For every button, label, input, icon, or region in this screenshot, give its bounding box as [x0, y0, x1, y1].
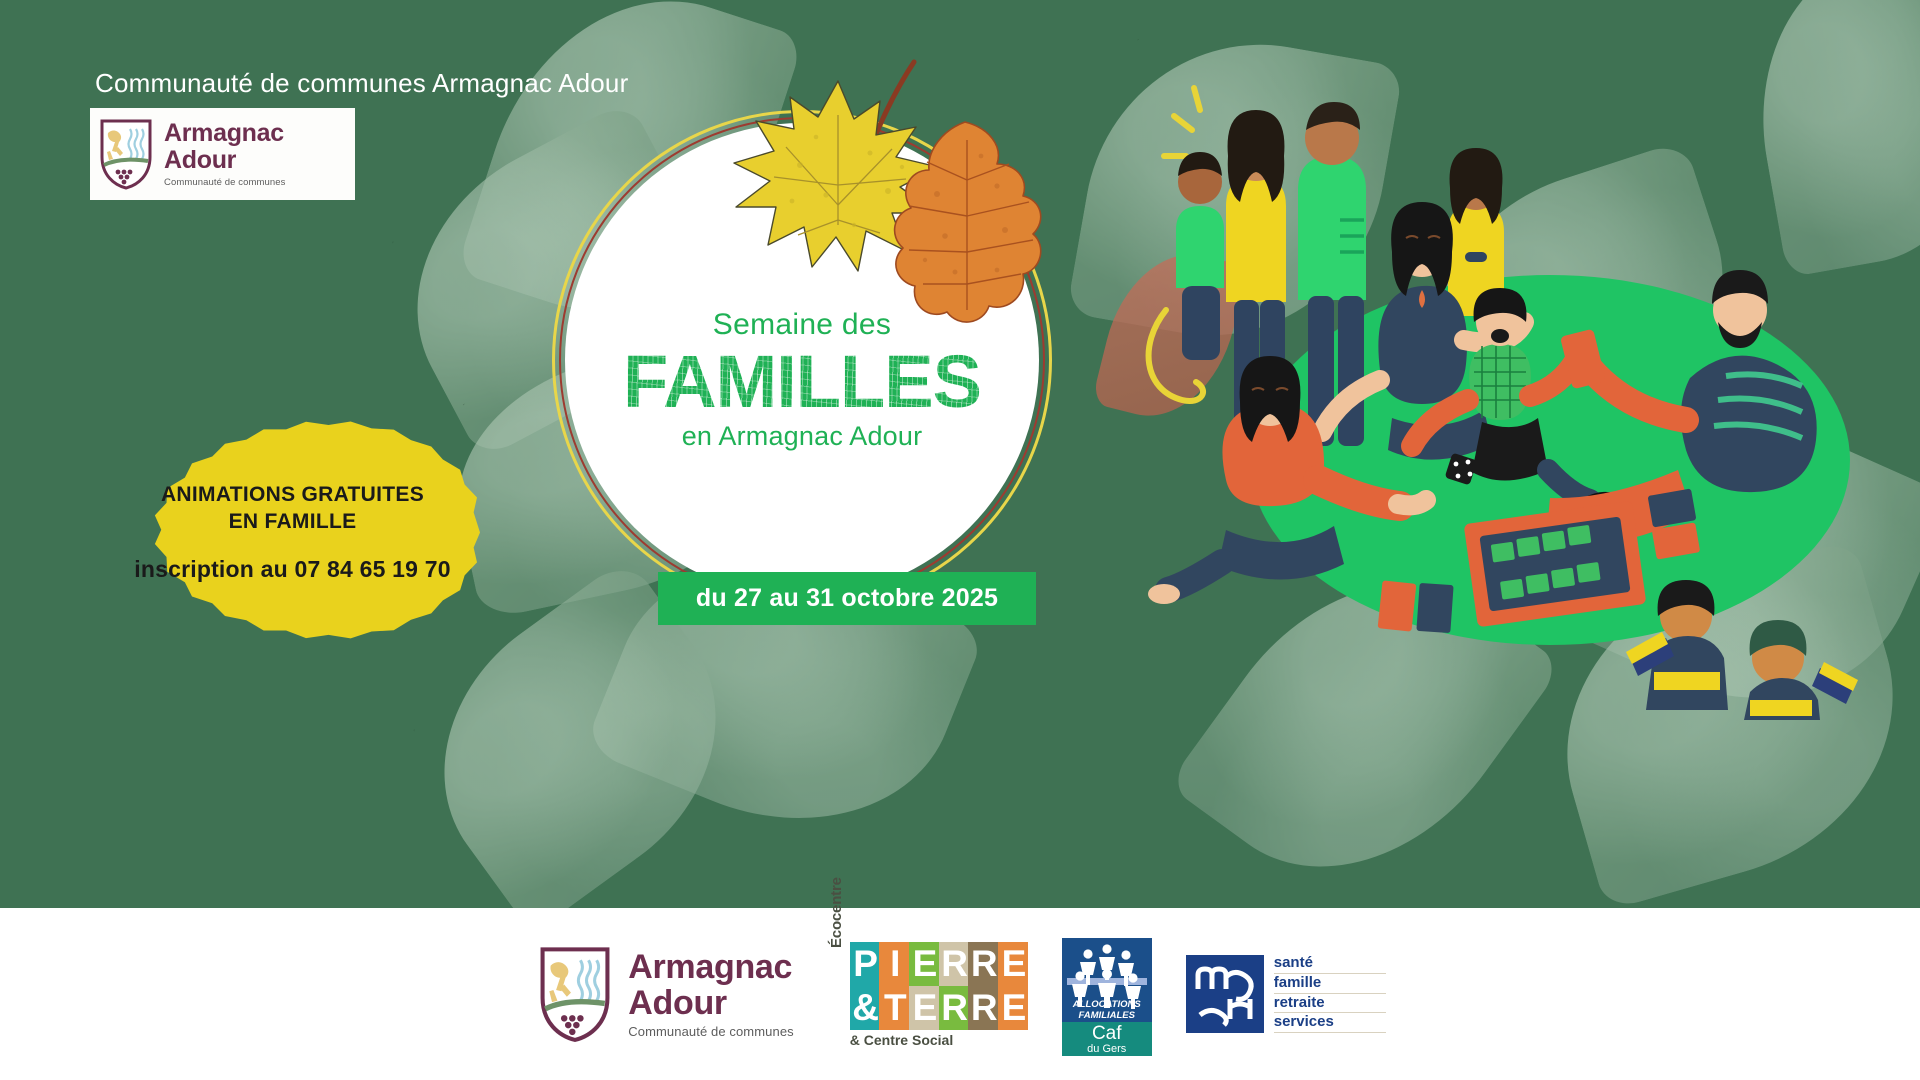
pt-cell: P [850, 942, 880, 986]
msa-line: services [1274, 1014, 1386, 1033]
oak-leaf-icon [885, 120, 1050, 330]
footer-logo-name-line1: Armagnac [628, 950, 794, 984]
pierre-row: P I E R R E [850, 942, 1028, 986]
pt-cell: R [939, 942, 969, 986]
page-title: Communauté de communes Armagnac Adour [95, 68, 628, 99]
hero-kicker: Semaine des [713, 308, 891, 342]
pt-cell: R [968, 986, 998, 1030]
pt-cell: I [879, 942, 909, 986]
armagnac-adour-shield-icon [534, 944, 616, 1044]
pt-cell: R [968, 942, 998, 986]
logo-name-line2: Adour [164, 148, 286, 173]
footer-logo-caf-du-gers[interactable]: ALLOCATIONS FAMILIALES Caf du Gers [1062, 938, 1152, 1050]
hero-title: FAMILLES [623, 346, 981, 417]
pt-cell: T [879, 986, 909, 1030]
footer-logo-tagline: Communauté de communes [628, 1025, 794, 1038]
pt-cell: E [998, 986, 1028, 1030]
logo-tagline: Communauté de communes [164, 178, 286, 188]
footer-partner-bar: Armagnac Adour Communauté de communes Éc… [0, 908, 1920, 1080]
ecocentre-label: Écocentre [828, 877, 845, 948]
poster-canvas: Communauté de communes Armagnac Adour [0, 0, 1920, 1080]
header-logo-text: Armagnac Adour Communauté de communes [164, 121, 286, 188]
caf-region: du Gers [1062, 1043, 1152, 1056]
hero-date-banner[interactable]: du 27 au 31 octobre 2025 [658, 572, 1036, 625]
footer-logo-armagnac-adour[interactable]: Armagnac Adour Communauté de communes [534, 944, 794, 1044]
header-logo-armagnac-adour[interactable]: Armagnac Adour Communauté de communes [90, 108, 355, 200]
msa-line: retraite [1274, 995, 1386, 1014]
caf-allocations-label: ALLOCATIONS FAMILIALES [1062, 1000, 1152, 1022]
footer-logo-msa[interactable]: santé famille retraite services [1186, 955, 1386, 1033]
pt-cell: R [939, 986, 969, 1030]
terre-row: & T E R R E [850, 986, 1028, 1030]
msa-mark-icon [1186, 955, 1264, 1033]
armagnac-adour-shield-icon [96, 117, 156, 191]
footer-logo-pierre-et-terre[interactable]: Écocentre P I E R R E & T E R [828, 942, 1028, 1046]
caf-name: Caf [1062, 1024, 1152, 1043]
family-playing-board-game-illustration [1130, 60, 1920, 720]
msa-line: santé [1274, 955, 1386, 974]
badge-line-1: ANIMATIONS GRATUITES [134, 482, 450, 509]
badge-line-2: EN FAMILLE [134, 509, 450, 536]
pt-cell: & [850, 986, 880, 1030]
caf-name-block: Caf du Gers [1062, 1022, 1152, 1056]
caf-label-line2: FAMILIALES [1062, 1011, 1152, 1022]
pt-cell: E [909, 986, 939, 1030]
pierre-terre-blocks: P I E R R E & T E R R E [850, 942, 1028, 1030]
pt-cell: E [909, 942, 939, 986]
logo-name-line1: Armagnac [164, 121, 286, 146]
centre-social-label: & Centre Social [850, 1032, 953, 1048]
footer-armagnac-text: Armagnac Adour Communauté de communes [628, 950, 794, 1038]
msa-services-list: santé famille retraite services [1274, 955, 1386, 1033]
msa-line: famille [1274, 975, 1386, 994]
pt-cell: E [998, 942, 1028, 986]
badge-phone: inscription au 07 84 65 19 70 [134, 556, 450, 583]
badge-content: ANIMATIONS GRATUITES EN FAMILLE inscript… [134, 482, 450, 583]
hero-subtitle: en Armagnac Adour [682, 421, 923, 452]
footer-logo-name-line2: Adour [628, 986, 794, 1020]
free-activities-badge[interactable]: ANIMATIONS GRATUITES EN FAMILLE inscript… [105, 410, 480, 655]
